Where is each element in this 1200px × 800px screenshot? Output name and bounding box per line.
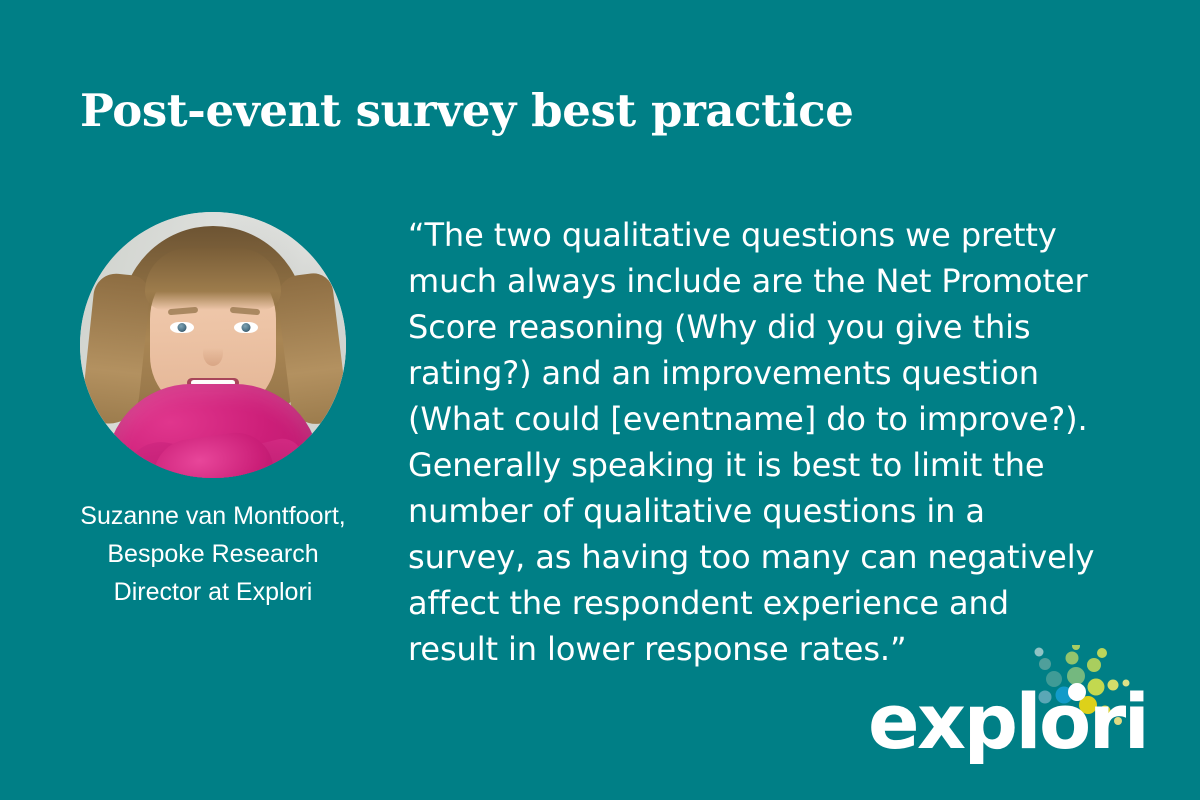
attribution-line-1: Suzanne van Montfoort, <box>46 497 380 535</box>
nose-shape <box>203 340 223 366</box>
eye-right <box>234 322 258 333</box>
avatar <box>80 212 346 478</box>
slide-canvas: Post-event survey best practice <box>0 0 1200 800</box>
attribution-caption: Suzanne van Montfoort, Bespoke Research … <box>46 497 380 611</box>
attribution-line-2: Bespoke Research <box>46 535 380 573</box>
eye-left <box>170 322 194 333</box>
hair-fringe <box>145 248 281 310</box>
portrait-photo <box>80 212 346 478</box>
logo-wordmark: explori <box>868 684 1147 760</box>
attribution-line-3: Director at Explori <box>46 573 380 611</box>
scarf-knot <box>149 428 277 478</box>
page-title: Post-event survey best practice <box>80 83 980 139</box>
quote-text: “The two qualitative questions we pretty… <box>408 212 1108 672</box>
explori-logo: explori <box>868 645 1128 760</box>
